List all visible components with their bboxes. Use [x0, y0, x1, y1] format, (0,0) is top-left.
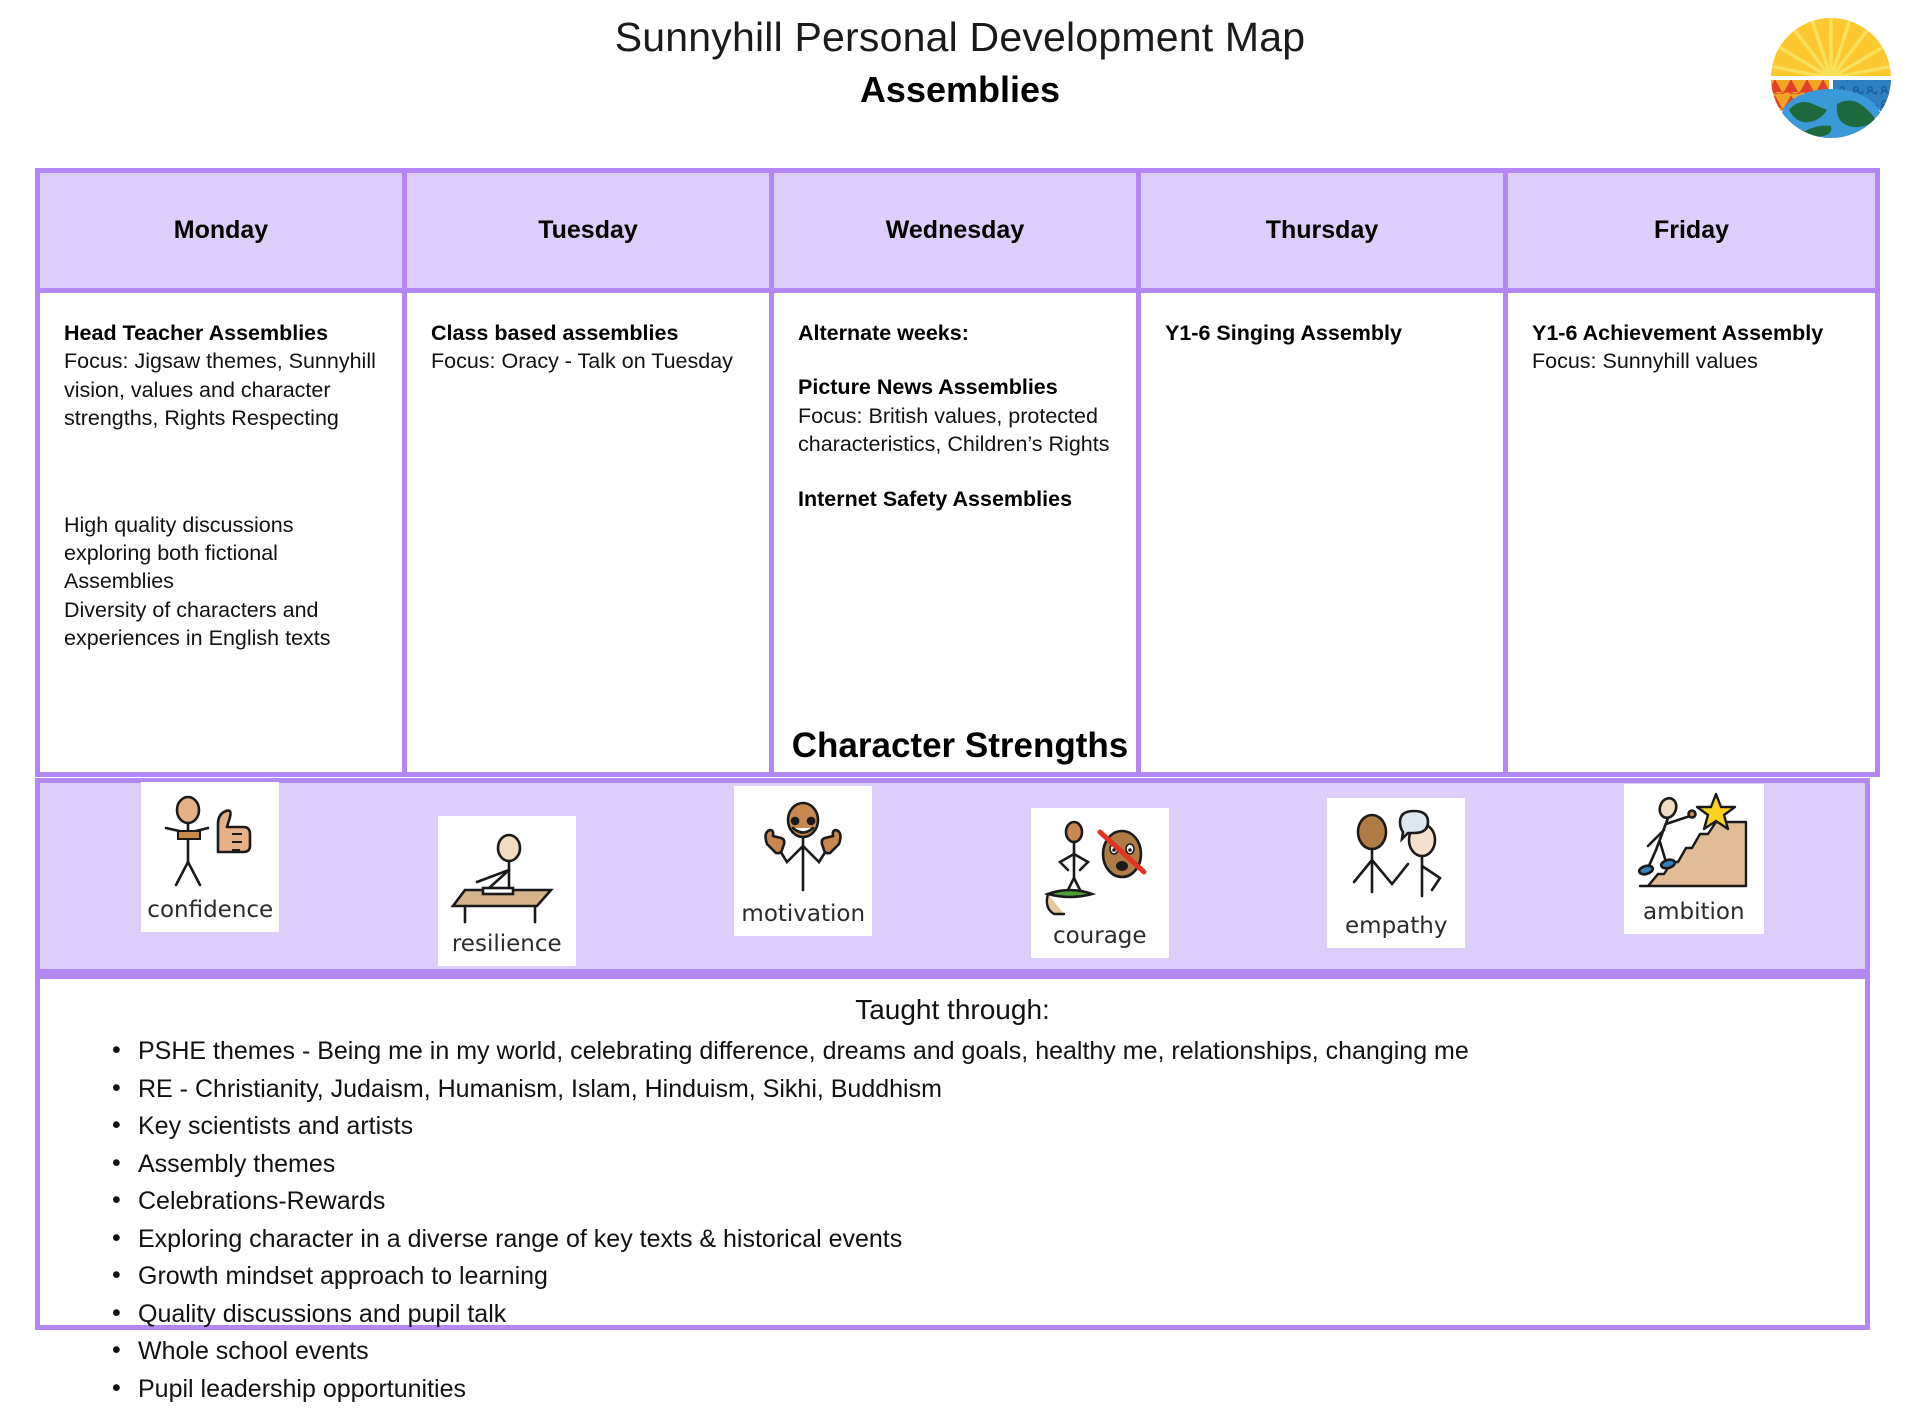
sunnyhill-school-logo-icon [1767, 14, 1895, 142]
page-title: Sunnyhill Personal Development Map [0, 12, 1920, 63]
thursday-heading: Y1-6 Singing Assembly [1165, 319, 1479, 347]
friday-focus: Focus: Sunnyhill values [1532, 347, 1851, 375]
taught-through-list: PSHE themes - Being me in my world, cele… [40, 1033, 1865, 1408]
strength-label-resilience: resilience [450, 930, 564, 961]
monday-heading: Head Teacher Assemblies [64, 319, 378, 347]
column-header-thursday: Thursday [1141, 173, 1508, 293]
strength-card-motivation: motivation [734, 786, 872, 935]
cell-monday: Head Teacher Assemblies Focus: Jigsaw th… [40, 293, 407, 772]
wednesday-focus-1: Focus: British values, protected charact… [798, 402, 1112, 459]
strength-label-ambition: ambition [1641, 898, 1747, 929]
strength-label-confidence: confidence [145, 896, 275, 927]
list-item: Pupil leadership opportunities [106, 1371, 1865, 1408]
weekly-assemblies-table: Monday Tuesday Wednesday Thursday Friday… [35, 168, 1880, 777]
list-item: Growth mindset approach to learning [106, 1258, 1865, 1296]
table-body-row: Head Teacher Assemblies Focus: Jigsaw th… [40, 293, 1875, 772]
wednesday-intro: Alternate weeks: [798, 319, 1112, 347]
column-header-monday: Monday [40, 173, 407, 293]
monday-extra: High quality discussions exploring both … [64, 511, 378, 653]
person-at-desk-icon [447, 822, 567, 930]
list-item: Whole school events [106, 1333, 1865, 1371]
spacer [798, 347, 1112, 373]
strength-card-courage: courage [1031, 808, 1169, 957]
page-subtitle: Assemblies [0, 67, 1920, 114]
strength-card-empathy: empathy [1327, 798, 1465, 947]
table-header-row: Monday Tuesday Wednesday Thursday Friday [40, 173, 1875, 293]
spacer [798, 459, 1112, 485]
friday-heading: Y1-6 Achievement Assembly [1532, 319, 1851, 347]
list-item: Exploring character in a diverse range o… [106, 1221, 1865, 1259]
person-climbing-to-star-icon [1634, 790, 1754, 898]
two-people-talking-icon [1336, 804, 1456, 912]
list-item: RE - Christianity, Judaism, Humanism, Is… [106, 1071, 1865, 1109]
list-item: Celebrations-Rewards [106, 1183, 1865, 1221]
two-thumbs-up-person-icon [743, 792, 863, 900]
character-strengths-band: confidence resilience [35, 778, 1870, 974]
wednesday-heading-1: Picture News Assemblies [798, 373, 1112, 401]
tuesday-heading: Class based assemblies [431, 319, 745, 347]
title-block: Sunnyhill Personal Development Map Assem… [0, 12, 1920, 114]
cell-tuesday: Class based assemblies Focus: Oracy - Ta… [407, 293, 774, 772]
tuesday-focus: Focus: Oracy - Talk on Tuesday [431, 347, 745, 375]
thumbs-up-person-icon [150, 788, 270, 896]
wednesday-heading-2: Internet Safety Assemblies [798, 485, 1112, 513]
strength-card-confidence: confidence [141, 782, 279, 931]
cell-friday: Y1-6 Achievement Assembly Focus: Sunnyhi… [1508, 293, 1875, 772]
monday-focus: Focus: Jigsaw themes, Sunnyhill vision, … [64, 347, 378, 432]
page-header: Sunnyhill Personal Development Map Assem… [0, 0, 1920, 168]
strength-label-courage: courage [1051, 922, 1149, 953]
strength-label-empathy: empathy [1343, 912, 1449, 943]
strength-card-ambition: ambition [1624, 784, 1764, 933]
cell-wednesday: Alternate weeks: Picture News Assemblies… [774, 293, 1141, 772]
taught-through-title: Taught through: [40, 989, 1865, 1028]
cell-thursday: Y1-6 Singing Assembly [1141, 293, 1508, 772]
column-header-wednesday: Wednesday [774, 173, 1141, 293]
strength-card-resilience: resilience [438, 816, 576, 965]
character-strengths-heading: Character Strengths [0, 728, 1920, 763]
column-header-friday: Friday [1508, 173, 1875, 293]
list-item: Key scientists and artists [106, 1108, 1865, 1146]
person-on-diving-board-icon [1040, 814, 1160, 922]
strength-label-motivation: motivation [739, 900, 867, 931]
list-item: PSHE themes - Being me in my world, cele… [106, 1033, 1865, 1071]
spacer [64, 433, 378, 511]
column-header-tuesday: Tuesday [407, 173, 774, 293]
list-item: Quality discussions and pupil talk [106, 1296, 1865, 1334]
taught-through-box: Taught through: PSHE themes - Being me i… [35, 974, 1870, 1330]
list-item: Assembly themes [106, 1146, 1865, 1184]
